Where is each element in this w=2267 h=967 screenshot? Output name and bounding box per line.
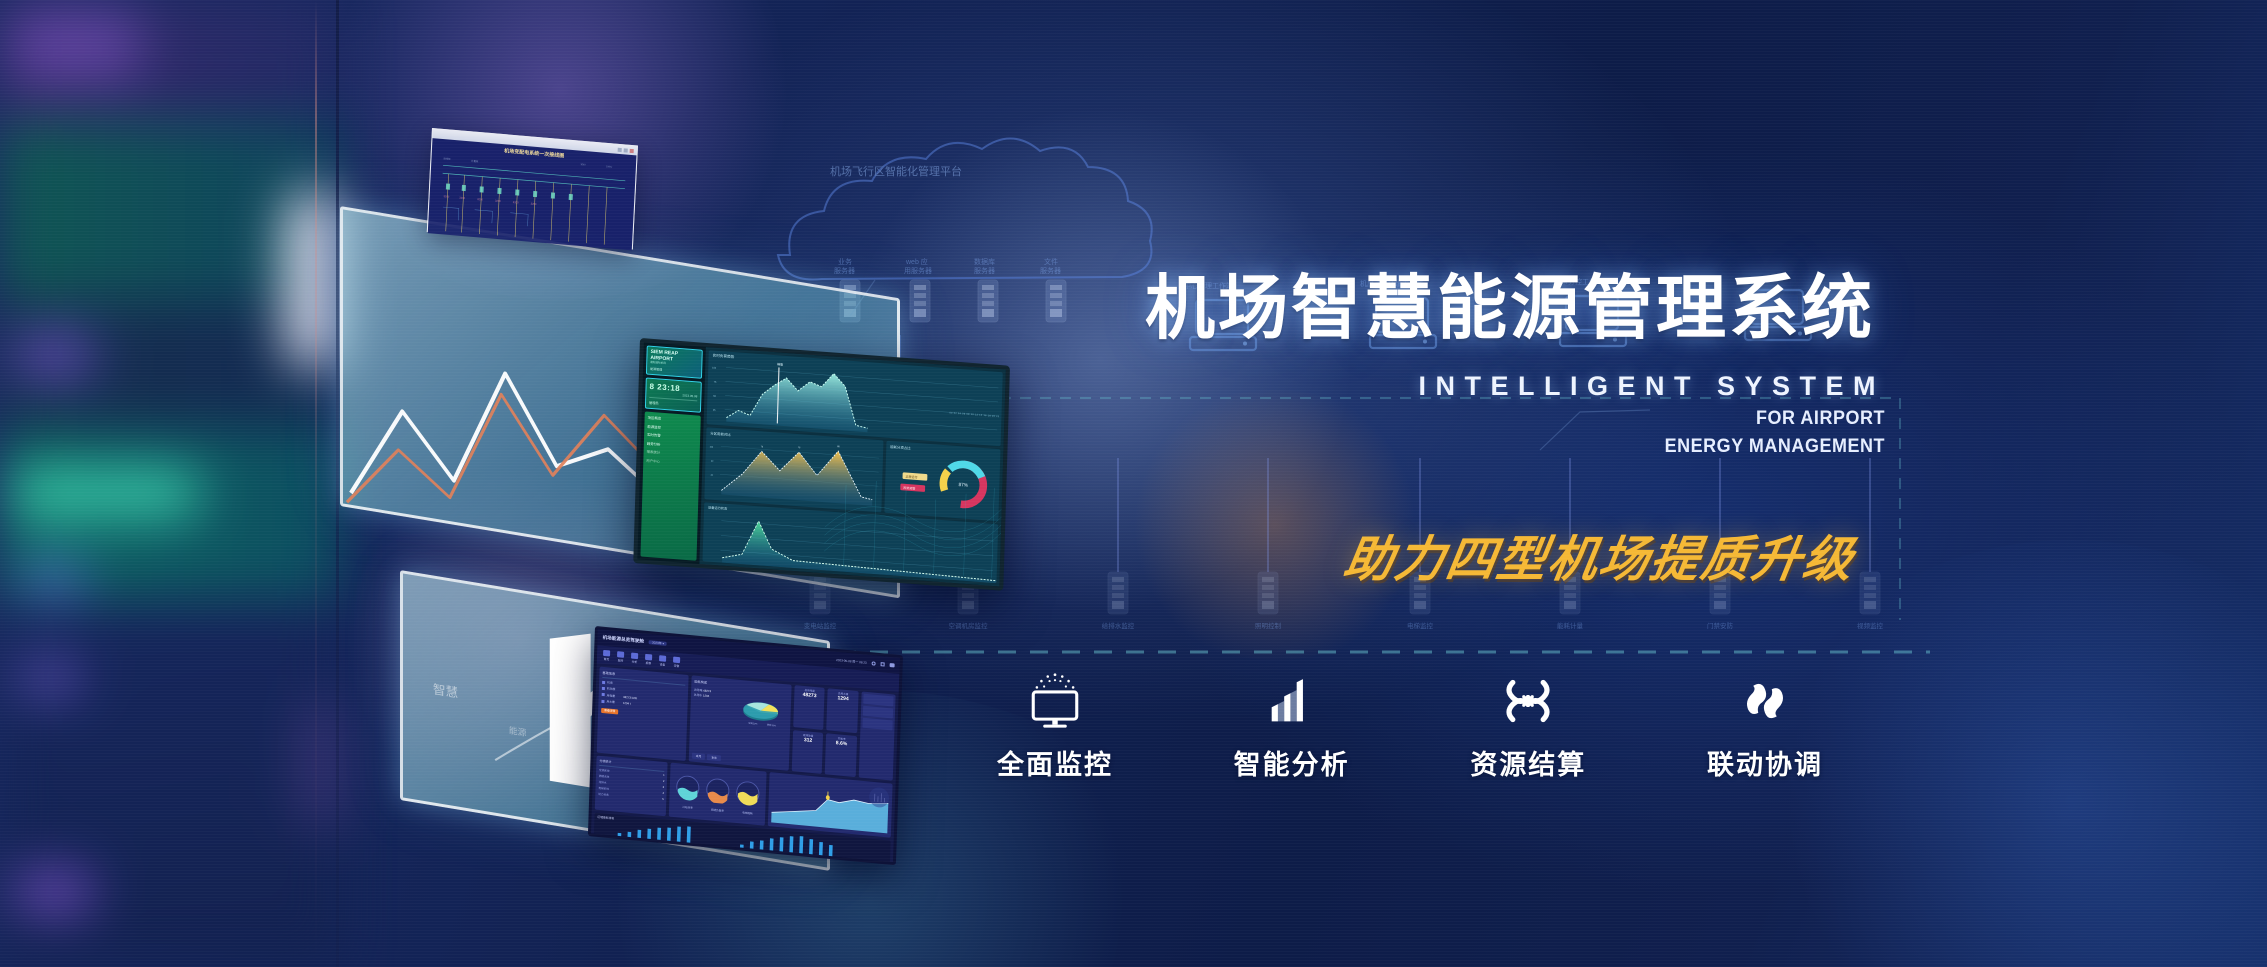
svg-text:25: 25 [713,409,716,412]
kpi-grid: 总用电量 48273 总用水量 1294 碳排放量 312 节能率 8.6% [792,685,859,777]
alert-list [859,691,896,780]
svg-text:文件: 文件 [1044,257,1058,266]
feature-label-0: 全面监控 [997,743,1113,782]
dashboard-screen-secondary: 机场能源总览驾驶舱 2023年 ▾ 2023-05-08 周一 08:23 首页… [588,626,903,865]
svg-text:空调 52%: 空调 52% [748,721,757,726]
user-label: 管理员 [649,400,697,409]
svg-text:数据库: 数据库 [974,257,995,266]
period-select[interactable]: 2023年 ▾ [649,640,667,646]
scada-window: 机场变配电系统一次接线图 320032003200 [427,128,638,250]
zone-compare-chart: 707688 1006020 [704,427,883,512]
kpi-card-0: 总用电量 48273 [793,685,825,729]
avatar[interactable] [890,663,895,667]
svg-text:能源: 能源 [509,724,527,738]
feature-item-2[interactable]: 资源结算 [1433,668,1623,782]
sidebar-item-5[interactable]: 用户中心 [646,457,696,466]
svg-text:75: 75 [714,381,717,384]
alert-item[interactable] [863,706,893,719]
alert-item[interactable] [863,694,893,707]
gauge-group: 冷站效率 照明负载率 电梯能耗 [669,763,767,826]
monitor-signal-icon [1026,668,1084,734]
svg-text:T1航站楼: T1航站楼 [633,858,644,863]
svg-text:3200: 3200 [531,202,537,207]
scada-canvas: 机场变配电系统一次接线图 320032003200 [428,138,637,250]
seam-line [315,0,317,967]
svg-text:计量柜: 计量柜 [471,159,479,164]
svg-text:服务器: 服务器 [1040,266,1061,275]
svg-text:服务器: 服务器 [834,266,855,275]
svg-text:异常预警: 异常预警 [903,485,915,491]
svg-text:用服务器: 用服务器 [904,266,932,275]
svg-text:业务: 业务 [838,257,852,266]
kpi-card-3: 节能率 8.6% [825,733,857,777]
english-subtitle-line2: ENERGY MANAGEMENT [1204,435,1885,458]
svg-text:70: 70 [761,446,764,448]
alert-item[interactable] [862,718,892,731]
panel-zone-compare: 分区用能对比 707688 [704,427,883,512]
feature-item-0[interactable]: 全面监控 [960,668,1150,782]
sidebar-item-2[interactable]: 实时告警 [647,432,697,441]
svg-text:门禁安防: 门禁安防 [1707,621,1734,630]
feature-label-2: 资源结算 [1470,743,1586,782]
secondary-title: 机场能源总览驾驶舱 [603,635,645,645]
feature-label-3: 联动协调 [1707,743,1823,782]
gauge-value: 87% [958,482,968,489]
svg-text:3200: 3200 [443,194,449,199]
brand-card: SIEM REAP AIRPORT 暹粒国际机场 能源管理 [646,346,703,379]
maximize-icon[interactable] [624,148,628,152]
svg-text:web 应: web 应 [905,257,928,266]
svg-text:3200: 3200 [477,197,483,202]
svg-text:20: 20 [711,475,714,477]
blurred-background-strip [0,0,340,967]
bar-chart-icon [1267,668,1317,734]
svg-text:照明 30%: 照明 30% [767,723,776,728]
svg-text:100: 100 [710,446,714,448]
card-basic-info: 基础信息 机场 航站楼 用电量48273 kWh 用水量1294 t 查看详情 [597,667,689,761]
brand-sub: 能源管理 [650,367,698,375]
svg-text:变电站监控: 变电站监控 [804,621,837,630]
nav-item-3[interactable]: 报表 [645,653,652,665]
slogan: 助力四型机场提质升级 [1339,520,1860,591]
page-title: 机场智慧能源管理系统 [1145,272,1885,345]
card-item-stats: 分项统计 空调系统1 照明系统2 给排水3 电梯系统4 动力设备5 [595,756,668,817]
clock-card: 8 23:18 2023.05.08 管理员 [645,378,702,413]
butterfly-cross-icon [1501,668,1555,734]
gauge-1: 照明负载率 [704,775,731,812]
svg-text:给排水监控: 给排水监控 [1102,621,1135,630]
feature-label-1: 智能分析 [1234,743,1350,782]
interlock-link-icon [1738,668,1792,734]
svg-text:空调机房监控: 空调机房监控 [949,621,989,630]
nav-item-0[interactable]: 首页 [603,649,610,661]
decorative-circle-icon [868,785,891,809]
svg-text:T2航站楼: T2航站楼 [692,864,703,865]
close-icon[interactable] [630,148,634,152]
english-subtitle-line1: FOR AIRPORT [1204,407,1885,430]
notification-icon[interactable] [872,661,876,665]
pie-chart-3d: 空调 52% 照明 30% [732,685,789,734]
detail-button[interactable]: 查看详情 [601,707,618,714]
svg-text:电梯监控: 电梯监控 [1407,621,1434,630]
sidebar-item-1[interactable]: 能源监控 [647,423,697,432]
dashboard-menu: 场区概览 能源监控 实时告警 趋势分析 报表统计 用户中心 [640,412,700,561]
card-trend-area [768,772,892,838]
english-title: INTELLIGENT SYSTEM [1145,371,1885,402]
headline-block: 机场智慧能源管理系统 INTELLIGENT SYSTEM FOR AIRPOR… [1145,272,1885,458]
svg-text:服务器: 服务器 [974,266,995,275]
hero-banner: 机场飞行区智能化管理平台 业务服务器 web 应用服务器 数据库服务器 文件服务… [0,0,2267,967]
nav-item-4[interactable]: 设备 [659,655,666,667]
kpi-card-1: 总用水量 1294 [827,688,859,732]
svg-text:10kV: 10kV [580,163,586,166]
gauge-2: 电梯能耗 [734,778,761,815]
svg-text:100: 100 [712,366,717,369]
svg-text:正常运行: 正常运行 [905,474,917,480]
dashboard-sidebar: SIEM REAP AIRPORT 暹粒国际机场 能源管理 8 23:18 20… [637,342,706,564]
sidebar-item-0[interactable]: 场区概览 [648,415,698,424]
svg-text:3200: 3200 [513,200,519,205]
svg-text:峰值: 峰值 [777,361,783,366]
nav-item-5[interactable]: 告警 [673,656,680,668]
svg-text:60: 60 [711,461,714,463]
gauge-0: 冷站效率 [674,773,701,810]
panel-energy-share: 能耗分项占比 87% 正常运行 异常预警 [884,441,1000,522]
svg-text:88: 88 [837,446,840,448]
feature-item-1[interactable]: 智能分析 [1197,668,1387,782]
svg-text:50: 50 [713,395,716,398]
svg-text:能耗计量: 能耗计量 [1557,621,1584,630]
svg-text:3200: 3200 [495,199,501,204]
card-energy-mix: 能耗构成 空调 52% 照明 30% 总用电 48273 总用水 1294 本 [689,675,792,771]
nav-item-1[interactable]: 监控 [617,651,624,663]
svg-text:照明控制: 照明控制 [1255,621,1282,630]
dashboard-content: 实时负荷趋势 峰值 100755025 [699,347,1006,587]
svg-text:3200: 3200 [459,196,465,201]
svg-text:视频监控: 视频监控 [1857,621,1884,630]
svg-text:76: 76 [798,447,801,449]
minimize-icon[interactable] [618,147,622,151]
svg-text:智慧: 智慧 [433,681,459,700]
gear-icon[interactable] [881,662,885,666]
seam-shadow [336,0,339,967]
dashboard-screen-main: SIEM REAP AIRPORT 暹粒国际机场 能源管理 8 23:18 20… [633,338,1010,591]
one-line-diagram: 320032003200 320032003200 进线柜计量柜 10kV0.4… [428,138,637,250]
nav-item-2[interactable]: 分析 [631,652,638,664]
donut-chart: 87% 正常运行 异常预警 [884,441,1000,522]
sidebar-item-3[interactable]: 趋势分析 [647,440,697,449]
svg-text:进线柜: 进线柜 [443,156,451,161]
feature-item-3[interactable]: 联动协调 [1670,668,1860,782]
svg-text:0.4kV: 0.4kV [606,165,613,169]
svg-text:机场飞行区智能化管理平台: 机场飞行区智能化管理平台 [830,164,962,178]
feature-row: 全面监控 智能分析 [960,668,1860,798]
sidebar-item-4[interactable]: 报表统计 [647,449,697,458]
kpi-card-2: 碳排放量 312 [792,730,824,774]
